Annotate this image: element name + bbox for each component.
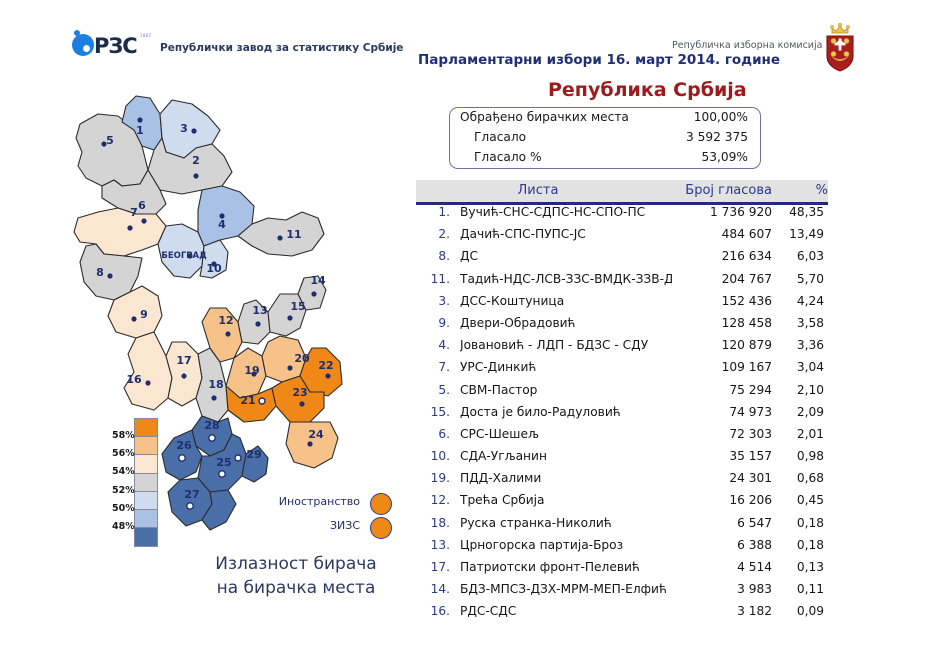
region-16	[124, 332, 172, 410]
summary-row: Гласало % 53,09%	[450, 150, 760, 170]
summary-value: 100,00%	[694, 110, 748, 124]
summary-label: Гласало	[474, 130, 526, 144]
row-list-name: Тадић-НДС-ЛСВ-ЗЗС-ВМДК-ЗЗВ-ДЛР	[460, 272, 672, 286]
table-row: 6.СРС-Шешељ72 3032,01	[416, 424, 828, 446]
row-percent: 6,03	[772, 249, 824, 263]
table-row: 3.ДСС-Коштуница152 4364,24	[416, 291, 828, 313]
row-rank: 19.	[416, 471, 450, 485]
row-percent: 5,70	[772, 272, 824, 286]
column-header-percent: %	[772, 183, 828, 198]
summary-label: Гласало %	[474, 150, 542, 164]
row-votes: 6 388	[660, 538, 772, 552]
serbia-turnout-map: 1 2 3 4 5 6 7 8 9 10 1112 1314 1516 1718…	[62, 86, 382, 556]
row-list-name: Доста је било-Радуловић	[460, 405, 672, 419]
row-votes: 484 607	[660, 227, 772, 241]
row-list-name: Јовановић - ЛДП - БДЗС - СДУ	[460, 338, 672, 352]
map-svg: 1 2 3 4 5 6 7 8 9 10 1112 1314 1516 1718…	[62, 86, 382, 556]
svg-text:9: 9	[140, 308, 148, 321]
table-row: 14.БДЗ-МПСЗ-ДЗХ-МРМ-МЕП-Елфић3 9830,11	[416, 579, 828, 601]
row-rank: 17.	[416, 560, 450, 574]
row-votes: 6 547	[660, 516, 772, 530]
rzs-logo-subtext: 1862	[140, 33, 151, 38]
table-row: 2.Дачић-СПС-ПУПС-ЈС484 60713,49	[416, 224, 828, 246]
map-caption-line1: Излазност бирача	[186, 552, 406, 576]
summary-label: Обрађено бирачких места	[460, 110, 629, 124]
row-rank: 15.	[416, 405, 450, 419]
row-percent: 0,18	[772, 538, 824, 552]
row-votes: 216 634	[660, 249, 772, 263]
svg-text:22: 22	[318, 359, 333, 372]
legend-tick: 56%	[112, 448, 132, 459]
table-row: 16.РДС-СДС3 1820,09	[416, 601, 828, 623]
row-list-name: ДСС-Коштуница	[460, 294, 672, 308]
svg-text:18: 18	[208, 378, 223, 391]
legend-swatch	[134, 509, 158, 529]
svg-text:10: 10	[206, 262, 222, 275]
row-percent: 48,35	[772, 205, 824, 219]
table-row: 5.СВМ-Пастор75 2942,10	[416, 380, 828, 402]
rzs-logo-text: РЗС	[94, 34, 137, 58]
svg-text:19: 19	[244, 364, 259, 377]
row-votes: 75 294	[660, 383, 772, 397]
row-votes: 24 301	[660, 471, 772, 485]
row-list-name: Трећа Србија	[460, 493, 672, 507]
row-votes: 152 436	[660, 294, 772, 308]
map-legend: 58%56%54%52%50%48%	[112, 418, 182, 548]
table-body: 1.Вучић-СНС-СДПС-НС-СПО-ПС1 736 92048,35…	[416, 202, 828, 624]
column-header-list: Листа	[416, 183, 660, 198]
svg-text:4: 4	[218, 218, 226, 231]
row-rank: 12.	[416, 493, 450, 507]
row-list-name: Дачић-СПС-ПУПС-ЈС	[460, 227, 672, 241]
summary-value: 53,09%	[702, 150, 748, 164]
legend-label: ЗИЗС	[330, 519, 360, 532]
row-rank: 1.	[416, 205, 450, 219]
row-percent: 0,98	[772, 449, 824, 463]
table-row: 11.Тадић-НДС-ЛСВ-ЗЗС-ВМДК-ЗЗВ-ДЛР204 767…	[416, 269, 828, 291]
row-percent: 0,45	[772, 493, 824, 507]
row-rank: 14.	[416, 582, 450, 596]
table-row: 7.УРС-Динкић109 1673,04	[416, 357, 828, 379]
summary-row: Гласало 3 592 375	[450, 130, 760, 150]
legend-swatch	[134, 473, 158, 493]
row-votes: 74 973	[660, 405, 772, 419]
svg-text:27: 27	[184, 488, 199, 501]
summary-value: 3 592 375	[686, 130, 748, 144]
row-list-name: СДА-Угљанин	[460, 449, 672, 463]
row-rank: 2.	[416, 227, 450, 241]
table-row: 12.Трећа Србија16 2060,45	[416, 490, 828, 512]
legend-swatch	[134, 491, 158, 511]
row-votes: 3 182	[660, 604, 772, 618]
column-header-votes: Број гласова	[660, 183, 772, 198]
svg-text:29: 29	[246, 448, 261, 461]
row-percent: 0,11	[772, 582, 824, 596]
legend-item-abroad: Иностранство	[272, 492, 392, 514]
legend-tick: 48%	[112, 521, 132, 532]
table-row: 1.Вучић-СНС-СДПС-НС-СПО-ПС1 736 92048,35	[416, 202, 828, 224]
legend-swatch	[134, 454, 158, 474]
row-percent: 2,01	[772, 427, 824, 441]
svg-text:21: 21	[240, 394, 255, 407]
svg-text:3: 3	[180, 122, 188, 135]
row-rank: 9.	[416, 316, 450, 330]
legend-circle-icon	[370, 493, 392, 515]
table-row: 13.Црногорска партија-Броз6 3880,18	[416, 535, 828, 557]
svg-text:2: 2	[192, 154, 200, 167]
row-votes: 120 879	[660, 338, 772, 352]
legend-tick: 54%	[112, 466, 132, 477]
legend-tick: 50%	[112, 503, 132, 514]
legend-swatch	[134, 436, 158, 456]
svg-text:11: 11	[286, 228, 301, 241]
row-rank: 8.	[416, 249, 450, 263]
row-rank: 7.	[416, 360, 450, 374]
row-votes: 35 157	[660, 449, 772, 463]
row-votes: 128 458	[660, 316, 772, 330]
svg-text:16: 16	[126, 373, 142, 386]
legend-item-zizs: ЗИЗС	[272, 516, 392, 538]
row-percent: 3,36	[772, 338, 824, 352]
row-rank: 16.	[416, 604, 450, 618]
row-rank: 13.	[416, 538, 450, 552]
row-percent: 0,13	[772, 560, 824, 574]
row-list-name: Вучић-СНС-СДПС-НС-СПО-ПС	[460, 205, 672, 219]
svg-text:8: 8	[96, 266, 104, 279]
row-votes: 72 303	[660, 427, 772, 441]
serbia-coat-of-arms-icon	[818, 22, 862, 74]
row-list-name: ПДД-Халими	[460, 471, 672, 485]
row-rank: 10.	[416, 449, 450, 463]
svg-text:14: 14	[310, 274, 326, 287]
summary-box: Обрађено бирачких места 100,00% Гласало …	[449, 107, 761, 169]
svg-text:28: 28	[204, 419, 219, 432]
election-title: Парламентарни избори 16. март 2014. годи…	[418, 52, 780, 68]
map-caption-line2: на бирачка места	[186, 576, 406, 600]
row-list-name: Патриотски фронт-Пелевић	[460, 560, 672, 574]
svg-text:25: 25	[216, 456, 231, 469]
extra-markers-legend: Иностранство ЗИЗС	[272, 492, 392, 538]
row-percent: 2,10	[772, 383, 824, 397]
table-row: 15.Доста је било-Радуловић74 9732,09	[416, 402, 828, 424]
commission-name: Републичка изборна комисија	[672, 40, 822, 51]
row-votes: 4 514	[660, 560, 772, 574]
row-percent: 0,18	[772, 516, 824, 530]
table-row: 18.Руска странка-Николић6 5470,18	[416, 513, 828, 535]
map-caption: Излазност бирача на бирачка места	[186, 552, 406, 600]
legend-circle-icon	[370, 517, 392, 539]
legend-tick: 58%	[112, 430, 132, 441]
row-rank: 5.	[416, 383, 450, 397]
row-list-name: ДС	[460, 249, 672, 263]
svg-text:7: 7	[130, 206, 138, 219]
agency-name: Републички завод за статистику Србије	[160, 42, 403, 54]
row-list-name: УРС-Динкић	[460, 360, 672, 374]
row-rank: 11.	[416, 272, 450, 286]
table-row: 10.СДА-Угљанин35 1570,98	[416, 446, 828, 468]
svg-text:12: 12	[218, 314, 233, 327]
results-table: Листа Број гласова % 1.Вучић-СНС-СДПС-НС…	[416, 180, 828, 624]
table-row: 19.ПДД-Халими24 3010,68	[416, 468, 828, 490]
row-percent: 13,49	[772, 227, 824, 241]
svg-text:1: 1	[136, 124, 144, 137]
row-list-name: СРС-Шешељ	[460, 427, 672, 441]
legend-label: Иностранство	[279, 495, 360, 508]
svg-text:15: 15	[290, 300, 305, 313]
legend-swatch	[134, 418, 158, 438]
belgrade-label: БЕОГРАД	[161, 251, 207, 261]
row-percent: 4,24	[772, 294, 824, 308]
row-votes: 109 167	[660, 360, 772, 374]
row-list-name: БДЗ-МПСЗ-ДЗХ-МРМ-МЕП-Елфић	[460, 582, 672, 596]
legend-tick: 52%	[112, 485, 132, 496]
republic-title: Република Србија	[548, 79, 747, 101]
table-row: 8.ДС216 6346,03	[416, 246, 828, 268]
row-list-name: СВМ-Пастор	[460, 383, 672, 397]
row-votes: 16 206	[660, 493, 772, 507]
row-list-name: РДС-СДС	[460, 604, 672, 618]
row-votes: 204 767	[660, 272, 772, 286]
row-percent: 3,58	[772, 316, 824, 330]
svg-text:23: 23	[292, 386, 307, 399]
row-percent: 0,68	[772, 471, 824, 485]
svg-text:24: 24	[308, 428, 324, 441]
row-percent: 3,04	[772, 360, 824, 374]
svg-text:20: 20	[294, 352, 310, 365]
row-percent: 0,09	[772, 604, 824, 618]
svg-text:17: 17	[176, 354, 191, 367]
table-row: 4.Јовановић - ЛДП - БДЗС - СДУ120 8793,3…	[416, 335, 828, 357]
rzs-logo-circle-icon	[72, 34, 94, 56]
table-header-row: Листа Број гласова %	[416, 180, 828, 202]
table-row: 9.Двери-Обрадовић128 4583,58	[416, 313, 828, 335]
row-list-name: Руска странка-Николић	[460, 516, 672, 530]
row-rank: 3.	[416, 294, 450, 308]
row-list-name: Црногорска партија-Броз	[460, 538, 672, 552]
summary-row: Обрађено бирачких места 100,00%	[450, 110, 760, 130]
svg-text:6: 6	[138, 199, 146, 212]
row-rank: 18.	[416, 516, 450, 530]
rzs-logo: РЗС 1862	[72, 30, 152, 60]
election-results-page: РЗС 1862 Републички завод за статистику …	[0, 0, 940, 662]
legend-swatch	[134, 527, 158, 547]
svg-text:5: 5	[106, 134, 114, 147]
row-votes: 1 736 920	[660, 205, 772, 219]
row-rank: 6.	[416, 427, 450, 441]
row-list-name: Двери-Обрадовић	[460, 316, 672, 330]
row-rank: 4.	[416, 338, 450, 352]
row-votes: 3 983	[660, 582, 772, 596]
table-row: 17.Патриотски фронт-Пелевић4 5140,13	[416, 557, 828, 579]
row-percent: 2,09	[772, 405, 824, 419]
svg-text:13: 13	[252, 304, 267, 317]
